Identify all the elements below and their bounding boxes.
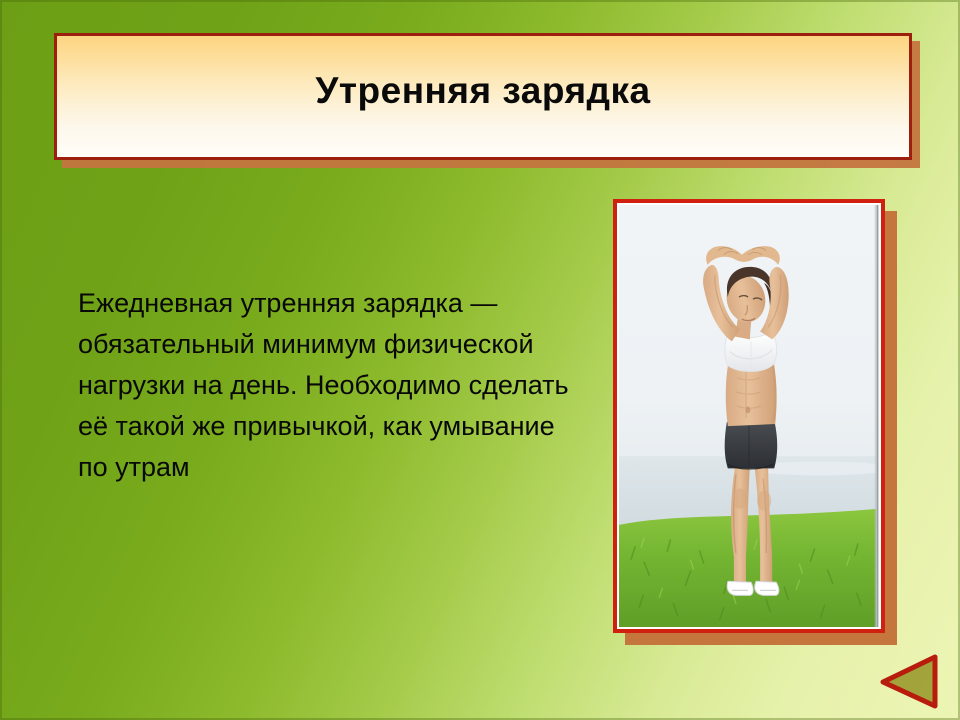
body-text: Ежедневная утренняя зарядка — обязательн… [78,283,578,488]
page-title: Утренняя зарядка [315,72,650,109]
presentation-slide: Утренняя зарядка Ежедневная утренняя зар… [0,0,960,720]
photo-image [619,205,879,627]
previous-slide-button[interactable] [880,653,940,709]
photo-frame [613,199,885,633]
exercise-photo-illustration [619,205,879,627]
triangle-left-icon[interactable] [883,657,935,706]
title-box: Утренняя зарядка [54,33,912,160]
